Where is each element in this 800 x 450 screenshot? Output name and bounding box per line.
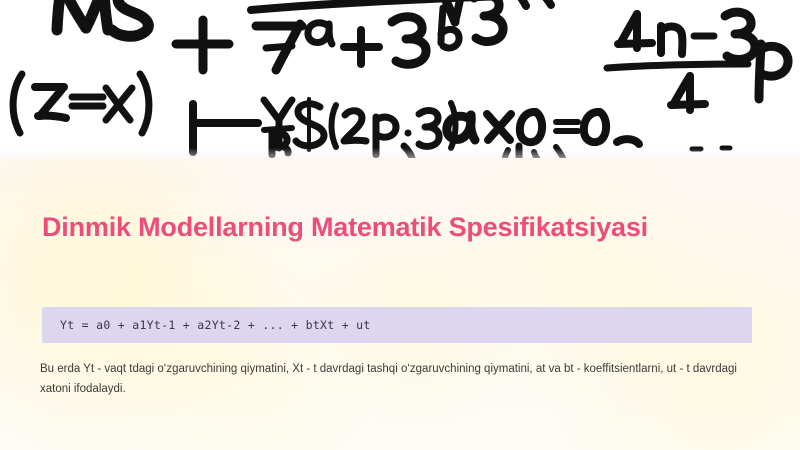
body-paragraph: Bu erda Yt - vaqt tdagi o‘zgaruvchining … bbox=[40, 360, 768, 400]
formula-text: Yt = a0 + a1Yt-1 + a2Yt-2 + ... + btXt +… bbox=[60, 318, 371, 332]
page-title: Dinmik Modellarning Matematik Spesifikat… bbox=[42, 208, 682, 246]
handwritten-math-image bbox=[0, 0, 800, 158]
formula-code-block: Yt = a0 + a1Yt-1 + a2Yt-2 + ... + btXt +… bbox=[42, 307, 752, 343]
page-root: Dinmik Modellarning Matematik Spesifikat… bbox=[0, 0, 800, 450]
handwriting-illustration bbox=[0, 0, 800, 158]
